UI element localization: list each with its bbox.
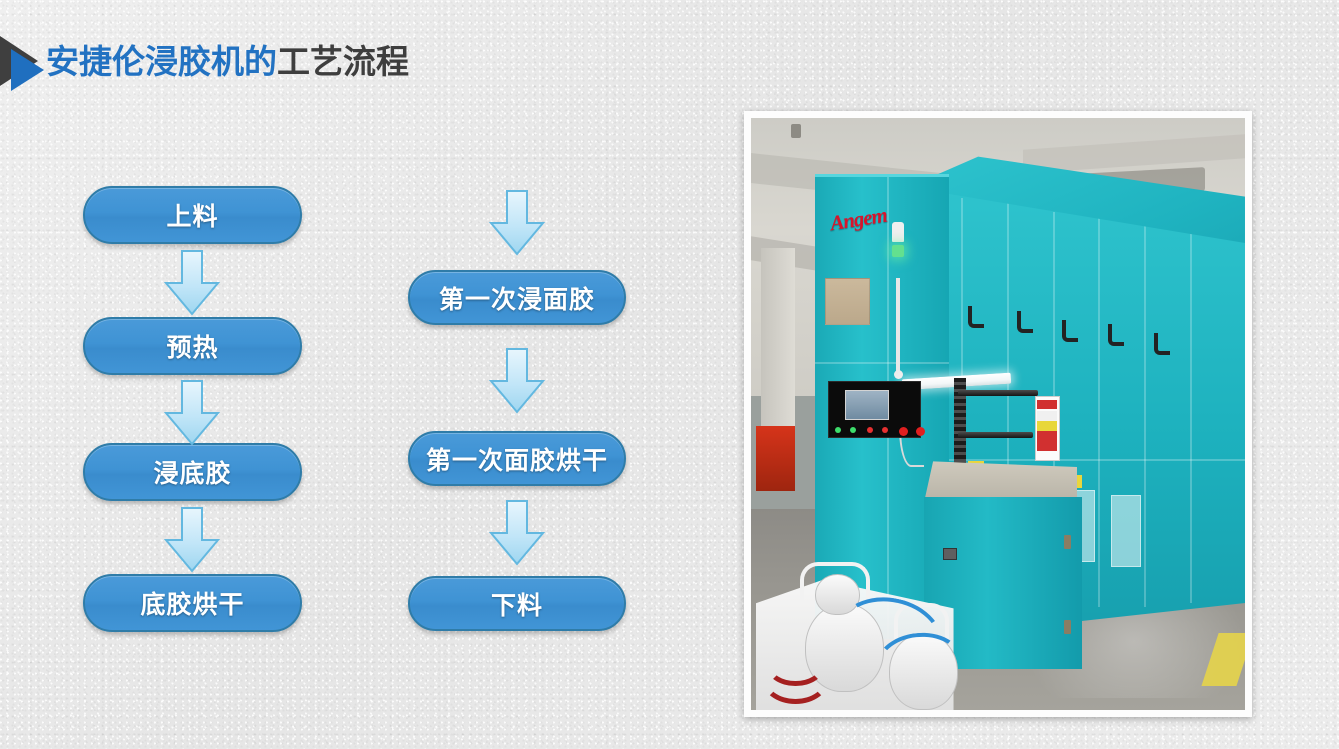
door-handle-icon: [1062, 320, 1078, 342]
flow-node-dijiaohonggan[interactable]: 底胶烘干: [83, 574, 302, 632]
control-panel-screen: [845, 390, 889, 420]
arrow-down-icon-2: [164, 380, 220, 446]
wall-pillar: [761, 248, 796, 437]
door-handle-icon: [968, 306, 984, 328]
panel-button-green[interactable]: [835, 427, 841, 433]
slide-canvas: 安捷伦浸胶机的工艺流程 上料 预热 浸底胶 底胶烘干: [0, 0, 1339, 749]
conveyor-rung: [958, 390, 1037, 396]
ceiling-lamp-icon: [791, 124, 801, 138]
panel-button-green[interactable]: [850, 427, 856, 433]
arrow-down-icon-3: [164, 507, 220, 573]
arrow-down-icon-1: [164, 250, 220, 316]
panel-button-red[interactable]: [882, 427, 888, 433]
door-handle-icon: [1108, 324, 1124, 346]
door-handle-icon: [1017, 311, 1033, 333]
stack-light-body: [892, 222, 904, 242]
flow-node-diyici-mianjiao-honggan[interactable]: 第一次面胶烘干: [408, 431, 626, 486]
inspection-window: [1111, 495, 1140, 567]
flow-node-jindijiao[interactable]: 浸底胶: [83, 443, 302, 501]
red-hose: [766, 645, 825, 686]
machine-nameplate: [825, 278, 869, 325]
warning-label: [1035, 396, 1060, 461]
stack-light-green-icon: [892, 245, 904, 257]
cabinet-hinge-icon: [1064, 620, 1071, 634]
door-handle-icon: [1154, 333, 1170, 355]
red-cabinet-left: [756, 426, 796, 491]
stack-light-pole: [896, 278, 900, 379]
flow-node-yure[interactable]: 预热: [83, 317, 302, 375]
machine-photo-frame: Angem: [744, 111, 1252, 717]
machine-photo: Angem: [751, 118, 1245, 710]
conveyor-rung: [958, 432, 1032, 438]
flow-node-shangliao[interactable]: 上料: [83, 186, 302, 244]
arrow-down-icon-5: [489, 348, 545, 414]
flow-node-diyici-jinmianjiao[interactable]: 第一次浸面胶: [408, 270, 626, 325]
light-arm-joint: [894, 370, 903, 379]
door-latch-icon: [943, 548, 957, 560]
tank-handle: [800, 562, 869, 603]
cabinet-hinge-icon: [1064, 535, 1071, 549]
flow-node-xialiao[interactable]: 下料: [408, 576, 626, 631]
process-flowchart: 上料 预热 浸底胶 底胶烘干: [0, 0, 700, 749]
arrow-down-icon-4: [489, 190, 545, 256]
arrow-down-icon-6: [489, 500, 545, 566]
